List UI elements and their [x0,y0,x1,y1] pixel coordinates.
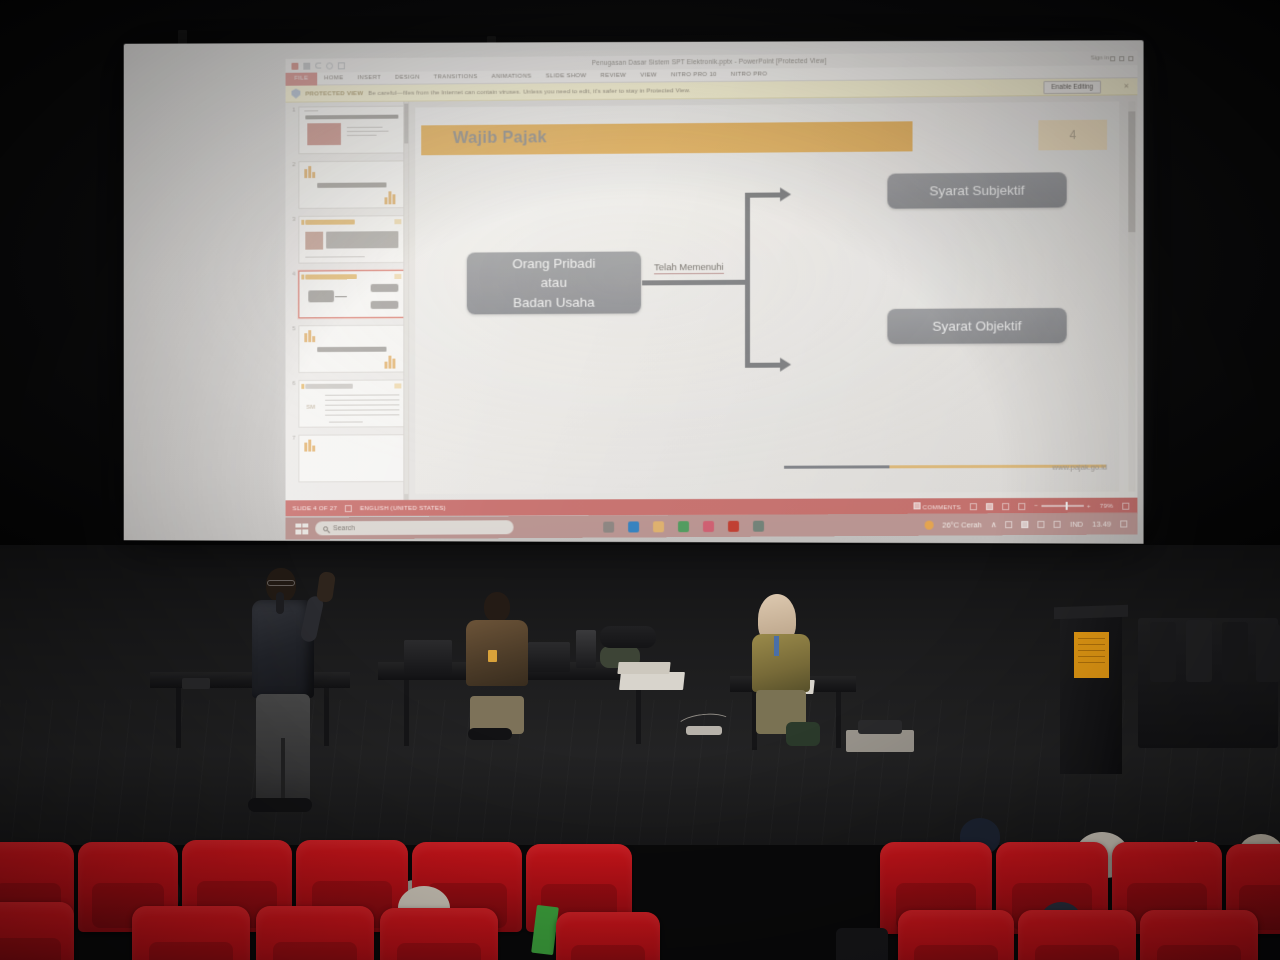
panelist-head [484,592,510,622]
ppt-workspace: 1 2 [286,95,1138,500]
cable-reel [182,678,210,689]
seated-panelist-left [460,592,544,752]
comments-label: COMMENTS [923,504,961,511]
seated-panelist-right [740,594,824,750]
protected-view-message: Be careful—files from the Internet can c… [368,87,690,97]
start-icon[interactable] [295,523,308,534]
ribbon-tab-home[interactable]: HOME [317,75,350,81]
thumbnail-row[interactable]: 2 [289,160,406,209]
spellcheck-icon[interactable] [345,505,352,512]
seat [0,902,74,960]
chair-backrest [1256,624,1280,682]
panelist-torso [466,620,528,686]
ribbon-tab-file[interactable]: FILE [286,72,318,85]
connector-horizontal [642,280,747,286]
ribbon-tab-slideshow[interactable]: SLIDE SHOW [539,73,594,79]
weather-label[interactable]: 26°C Cerah [942,520,982,529]
scrollbar-thumb[interactable] [1128,111,1135,232]
notification-icon[interactable] [1120,520,1127,527]
thumbnail-row[interactable]: 7 [289,434,406,482]
slide-thumbnail-6[interactable]: SM [298,379,405,427]
table-leg [404,680,409,746]
comments-button[interactable]: COMMENTS [914,502,961,511]
current-slide: Wajib Pajak 4 Orang Pribadi atau Badan U… [415,101,1119,493]
search-icon [323,526,328,531]
shield-icon [291,89,300,99]
ribbon-tab-view[interactable]: VIEW [633,72,664,78]
close-icon[interactable] [1128,56,1133,61]
battery-icon[interactable] [1022,521,1029,528]
slide-number-badge: 4 [1038,120,1107,151]
reading-view-icon[interactable] [1002,503,1009,510]
podium-sign [1074,632,1109,678]
protected-view-label: PROTECTED VIEW [305,90,363,97]
thumbnail-row[interactable]: 4 [289,270,406,318]
onedrive-icon[interactable] [1005,521,1012,528]
ribbon-tab-insert[interactable]: INSERT [350,75,388,81]
canvas-scrollbar[interactable] [1128,101,1135,491]
seat [256,906,374,960]
thumbnail-number: 6 [289,380,296,428]
podium [1060,614,1122,774]
chair-backrest [1186,620,1212,682]
thumbnail-row[interactable]: 5 [289,325,406,373]
chair-backrest [1222,622,1248,682]
thumbnail-number: 3 [289,216,296,264]
table-leg [176,688,181,748]
normal-view-icon[interactable] [970,503,977,510]
ribbon-tab-animations[interactable]: ANIMATIONS [485,74,539,80]
thumbnail-row[interactable]: 1 [289,106,406,155]
ribbon-tab-review[interactable]: REVIEW [594,73,634,79]
seat [556,912,660,960]
thumbnail-number: 4 [289,271,296,319]
auditorium-scene: Penugasan Dasar Sistem SPT Elektronik.pp… [0,0,1280,960]
language-indicator[interactable]: ENGLISH (UNITED STATES) [360,504,446,511]
thumbnail-number: 1 [289,107,296,155]
chrome-icon[interactable] [678,521,689,532]
store-icon[interactable] [703,520,714,531]
seat [380,908,498,960]
enable-editing-button[interactable]: Enable Editing [1043,81,1101,95]
slide-thumbnail-1[interactable] [298,106,405,155]
slide-thumbnail-4-selected[interactable] [298,270,405,318]
laptop-left [404,640,452,674]
slide-thumbnail-3[interactable] [298,215,405,263]
taskbar-pinned-apps[interactable] [603,520,764,532]
documents-center-2 [617,662,670,674]
language-indicator[interactable]: IND [1070,519,1083,528]
music-icon[interactable] [728,520,739,531]
slide-title: Wajib Pajak [453,128,547,148]
connector-branch-top [745,192,781,197]
standing-presenter [240,562,350,832]
powerpoint-window[interactable]: Penugasan Dasar Sistem SPT Elektronik.pp… [286,51,1138,516]
power-strip [686,726,722,735]
taskbar-system-tray[interactable]: 26°C Cerah ∧ IND 13.49 [924,519,1137,529]
volume-icon[interactable] [1054,520,1061,527]
documents-center [619,672,685,690]
task-view-icon[interactable] [603,521,614,532]
ribbon-tab-nitro-pro-10[interactable]: NITRO PRO 10 [664,72,724,79]
panelist-torso [752,634,810,692]
arrow-head-top [780,187,791,201]
diagram-node-objective: Syarat Objektif [887,308,1066,344]
decor-chart [385,191,399,204]
thumbnail-watermark: SM [306,405,315,411]
window-controls[interactable] [1110,56,1133,61]
decor-chart [304,440,320,452]
glasses-icon [267,580,295,586]
presenter-hand-raised [316,571,336,603]
presenter-leg-split [281,738,285,802]
ribbon-tab-design[interactable]: DESIGN [388,75,427,81]
equipment-box [576,630,596,668]
lanyard-badge [488,650,497,662]
zoom-track[interactable] [1041,505,1083,507]
slide-thumbnail-7[interactable] [298,434,405,482]
seat [1140,910,1258,960]
slideshow-icon[interactable] [1018,503,1025,510]
mail-icon[interactable] [653,521,664,532]
floor-equipment [858,720,902,734]
taskbar-clock[interactable]: 13.49 [1092,519,1111,528]
thumbnail-number: 5 [289,325,296,373]
zoom-in-button[interactable]: + [1087,502,1091,509]
slide-thumbnail-2[interactable] [298,160,405,209]
comment-icon [914,502,921,509]
slide-counter: SLIDE 4 OF 27 [292,505,337,512]
fit-slide-icon[interactable] [1122,502,1129,509]
diagram-node-subjective: Syarat Subjektif [887,172,1066,208]
arrow-head-bottom [780,358,791,372]
footer-rule-grey [784,465,889,468]
ribbon-tab-nitro-pro[interactable]: NITRO PRO [724,71,775,77]
diagram-node-source: Orang Pribadi atau Badan Usaha [467,251,641,314]
slide-footer-url: www.pajak.go.id [1052,463,1107,472]
table-leg [836,692,841,748]
notebook-green [531,905,559,955]
decor-chart [304,330,320,342]
close-icon[interactable]: ✕ [1123,82,1129,90]
audience-seating [0,820,1280,960]
lanyard [774,636,779,656]
zoom-level: 79% [1100,502,1113,509]
stacked-chairs-left [600,626,656,648]
slide-thumbnail-5[interactable] [298,325,405,373]
zoom-slider[interactable]: − + [1034,502,1090,509]
thumbnail-row[interactable]: 3 [289,215,406,264]
slide-thumbnail-pane[interactable]: 1 2 [286,102,410,501]
backpack [786,722,820,746]
seat [1018,910,1136,960]
seat [898,910,1014,960]
taskbar-search-input[interactable]: Search [315,520,513,535]
node-line-3: Badan Usaha [513,292,594,312]
connector-label: Telah Memenuhi [654,262,724,274]
chevron-up-icon[interactable]: ∧ [991,520,997,529]
sign-in-link[interactable]: Sign in [1091,55,1110,61]
thumbnail-number: 2 [289,161,296,209]
slide-sorter-icon[interactable] [986,503,993,510]
microphone-icon [276,592,284,614]
node-line-2: atau [541,273,567,293]
thumbnail-row[interactable]: 6 SM [289,379,406,427]
connector-branch-bottom [745,363,781,368]
podium-top [1054,605,1128,620]
chair-backrest [1150,622,1176,682]
panelist-shoes [468,728,512,740]
ribbon-tab-transitions[interactable]: TRANSITIONS [427,74,485,80]
presenter-shoes [248,798,312,812]
decor-chart [385,356,399,369]
node-line-1: Orang Pribadi [512,253,595,273]
connector-vertical [745,193,750,368]
zoom-knob[interactable] [1066,502,1069,510]
zoom-out-button[interactable]: − [1034,502,1038,509]
seat [132,906,250,960]
minimize-icon[interactable] [1110,56,1115,61]
bag-on-floor [836,928,888,960]
excel-icon[interactable] [753,520,764,531]
search-placeholder: Search [333,525,355,532]
thumbnail-scrollbar[interactable] [403,102,408,500]
edge-icon[interactable] [628,521,639,532]
weather-icon [924,520,933,529]
maximize-icon[interactable] [1119,56,1124,61]
decor-chart [304,166,320,178]
thumbnail-number: 7 [289,435,296,483]
slide-canvas[interactable]: Wajib Pajak 4 Orang Pribadi atau Badan U… [409,95,1137,500]
wifi-icon[interactable] [1038,520,1045,527]
